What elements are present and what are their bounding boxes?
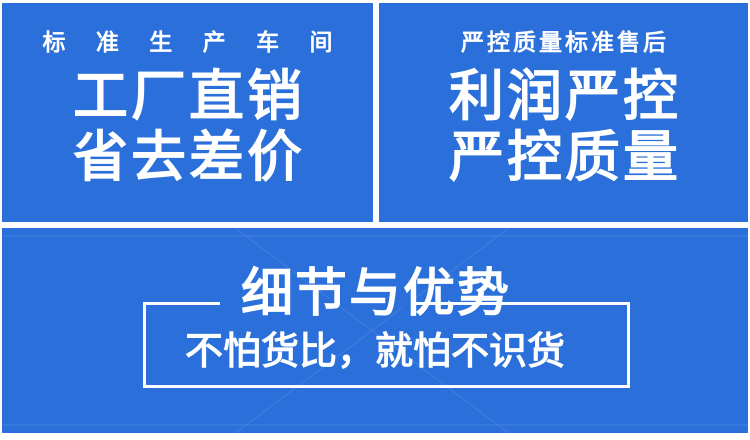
top-panel-row: 标 准 生 产 车 间 工厂直销 省去差价 严控质量标准售后 利润严控 严控质量 bbox=[2, 3, 748, 222]
bottom-banner: 细节与优势 不怕货比，就怕不识货 bbox=[2, 228, 748, 433]
promo-banner-stage: 标 准 生 产 车 间 工厂直销 省去差价 严控质量标准售后 利润严控 严控质量… bbox=[0, 0, 750, 440]
panel-quality-control: 严控质量标准售后 利润严控 严控质量 bbox=[379, 3, 748, 222]
panel-quality-control-headline-line1: 利润严控 bbox=[379, 68, 748, 125]
panel-factory-direct-headline-line2: 省去差价 bbox=[2, 129, 373, 186]
panel-factory-direct-content: 标 准 生 产 车 间 工厂直销 省去差价 bbox=[2, 3, 373, 186]
bottom-banner-subtitle: 不怕货比，就怕不识货 bbox=[2, 333, 748, 371]
panel-factory-direct-headline-line1: 工厂直销 bbox=[2, 68, 373, 125]
panel-quality-control-content: 严控质量标准售后 利润严控 严控质量 bbox=[379, 3, 748, 186]
panel-factory-direct-eyebrow: 标 准 生 产 车 间 bbox=[2, 31, 373, 54]
panel-factory-direct: 标 准 生 产 车 间 工厂直销 省去差价 bbox=[2, 3, 373, 222]
panel-quality-control-headline-line2: 严控质量 bbox=[379, 129, 748, 186]
panel-quality-control-eyebrow: 严控质量标准售后 bbox=[379, 31, 748, 54]
bottom-banner-title: 细节与优势 bbox=[2, 268, 748, 320]
